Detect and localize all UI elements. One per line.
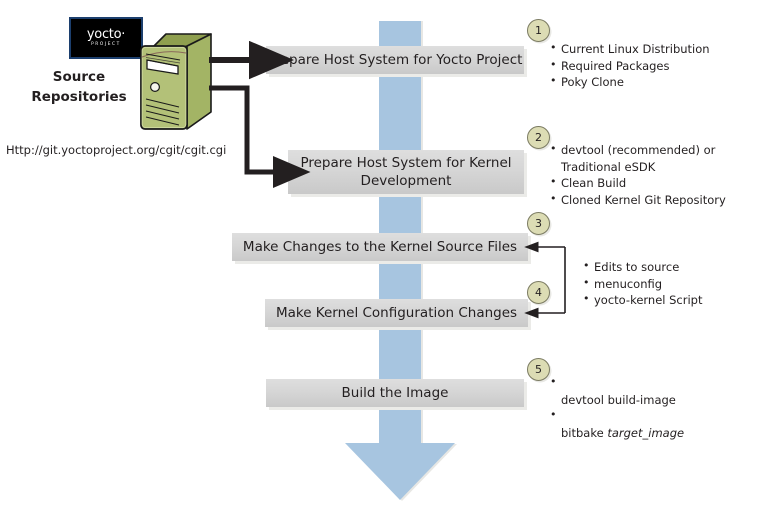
list-item: Edits to source bbox=[583, 259, 703, 276]
list-item: Cloned Kernel Git Repository bbox=[550, 192, 726, 209]
process-box-step-2[interactable]: Prepare Host System for Kernel Developme… bbox=[288, 150, 524, 194]
yocto-project-logo: yocto· PROJECT bbox=[69, 17, 143, 59]
list-item: Poky Clone bbox=[550, 74, 710, 91]
process-box-step-1-label: Prepare Host System for Yocto Project bbox=[268, 51, 523, 69]
bullets-step-1-list: Current Linux Distribution Required Pack… bbox=[550, 41, 710, 91]
step-circle-5-number: 5 bbox=[535, 363, 542, 376]
list-item-emphasis: target_image bbox=[607, 426, 684, 440]
yocto-logo-dot: · bbox=[121, 27, 125, 42]
process-box-step-2-label: Prepare Host System for Kernel Developme… bbox=[300, 154, 511, 190]
step-circle-2: 2 bbox=[527, 126, 550, 149]
step-circle-3: 3 bbox=[527, 212, 550, 235]
yocto-logo-subtitle: PROJECT bbox=[91, 43, 121, 47]
step-circle-2-number: 2 bbox=[535, 131, 542, 144]
list-item: Clean Build bbox=[550, 175, 726, 192]
step-circle-4: 4 bbox=[527, 281, 550, 304]
process-box-step-4[interactable]: Make Kernel Configuration Changes bbox=[265, 299, 528, 327]
bullets-steps-3-and-4: Edits to source menuconfig yocto-kernel … bbox=[583, 259, 703, 309]
flow-arrow-head bbox=[345, 443, 455, 500]
process-box-step-1[interactable]: Prepare Host System for Yocto Project bbox=[266, 46, 524, 74]
bullets-step-5: devtool build-image bitbake target_image bbox=[550, 375, 684, 442]
process-box-step-3[interactable]: Make Changes to the Kernel Source Files bbox=[232, 233, 528, 261]
step-circle-4-number: 4 bbox=[535, 286, 542, 299]
bullets-step-5-list: devtool build-image bitbake target_image bbox=[550, 375, 684, 442]
source-repository-url: Http://git.yoctoproject.org/cgit/cgit.cg… bbox=[6, 143, 226, 157]
server-tower-icon bbox=[133, 29, 213, 134]
source-label-line-1: Source bbox=[20, 67, 138, 87]
list-item-text: bitbake bbox=[561, 426, 607, 440]
diagram-canvas: yocto· PROJECT Source Repositories Http:… bbox=[0, 0, 769, 517]
list-item: devtool (recommended) or Traditional eSD… bbox=[550, 142, 726, 175]
bullets-step-2: devtool (recommended) or Traditional eSD… bbox=[550, 142, 726, 209]
source-repositories-label: Source Repositories bbox=[20, 67, 138, 108]
process-box-step-4-label: Make Kernel Configuration Changes bbox=[276, 304, 517, 322]
connector-server-to-step2 bbox=[209, 88, 278, 172]
list-item: bitbake target_image bbox=[550, 408, 684, 441]
list-item: menuconfig bbox=[583, 276, 703, 293]
list-item: Current Linux Distribution bbox=[550, 41, 710, 58]
list-item: yocto-kernel Script bbox=[583, 292, 703, 309]
bullets-step-1: Current Linux Distribution Required Pack… bbox=[550, 41, 710, 91]
source-label-line-2: Repositories bbox=[20, 87, 138, 107]
process-box-step-3-label: Make Changes to the Kernel Source Files bbox=[243, 238, 517, 256]
step-circle-1-number: 1 bbox=[535, 24, 542, 37]
process-box-step-5[interactable]: Build the Image bbox=[266, 379, 524, 407]
list-item: Required Packages bbox=[550, 58, 710, 75]
step-circle-3-number: 3 bbox=[535, 217, 542, 230]
step-circle-5: 5 bbox=[527, 358, 550, 381]
step-circle-1: 1 bbox=[527, 19, 550, 42]
bullets-steps-3-and-4-list: Edits to source menuconfig yocto-kernel … bbox=[583, 259, 703, 309]
yocto-logo-word: yocto· bbox=[87, 28, 125, 41]
bullets-step-2-list: devtool (recommended) or Traditional eSD… bbox=[550, 142, 726, 209]
process-box-step-5-label: Build the Image bbox=[342, 384, 449, 402]
list-item-text: devtool build-image bbox=[561, 393, 676, 407]
list-item: devtool build-image bbox=[550, 375, 684, 408]
